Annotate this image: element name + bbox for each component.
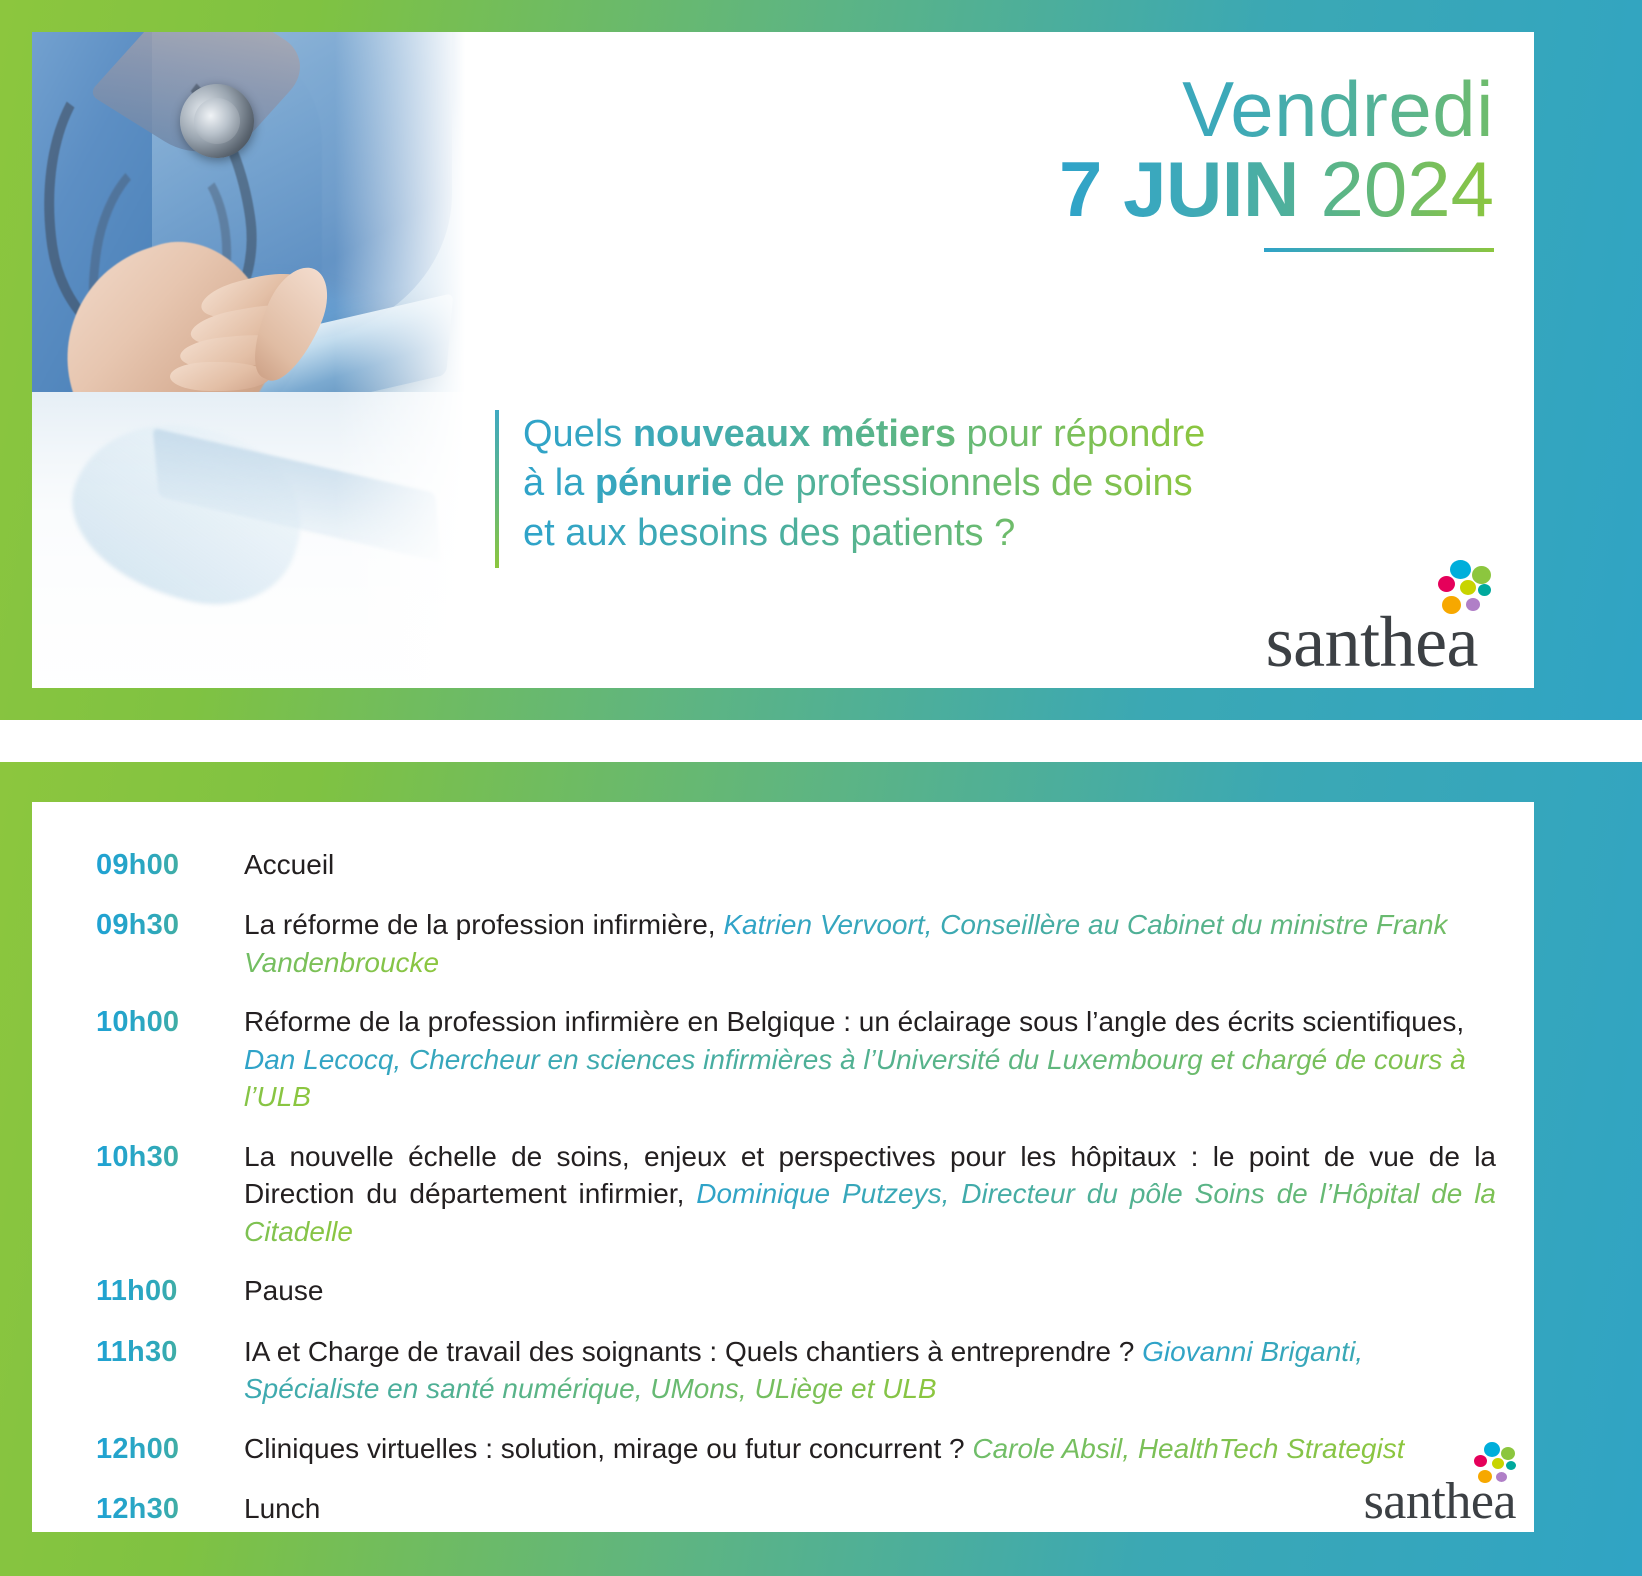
agenda-time: 12h30 [96, 1490, 244, 1528]
date-weekday: Vendredi [1059, 70, 1494, 148]
agenda-row[interactable]: 11h30 IA et Charge de travail des soigna… [96, 1333, 1496, 1408]
agenda-speaker: Carole Absil, HealthTech Strategist [972, 1433, 1404, 1464]
agenda-time: 09h30 [96, 906, 244, 944]
agenda-title: Cliniques virtuelles : solution, mirage … [244, 1433, 972, 1464]
agenda-time: 11h00 [96, 1272, 244, 1310]
theme-lines: Quels nouveaux métiers pour répondre à l… [499, 410, 1205, 568]
agenda-time: 10h00 [96, 1003, 244, 1041]
agenda-row[interactable]: 09h30 La réforme de la profession infirm… [96, 906, 1496, 981]
agenda-speaker: Dan Lecocq, Chercheur en sciences infirm… [244, 1044, 1466, 1113]
header-card: Vendredi 7 JUIN 2024 Quels nouveaux méti… [32, 32, 1534, 688]
date-day-month: 7 JUIN [1059, 145, 1299, 233]
agenda-title: Pause [244, 1275, 323, 1306]
date-underline-rule [1264, 248, 1494, 252]
agenda-card: 09h00 Accueil 09h30 La réforme de la pro… [32, 802, 1534, 1532]
agenda-title: Réforme de la profession infirmière en B… [244, 1006, 1464, 1037]
theme-line2-emphasis: pénurie [595, 462, 732, 504]
agenda-entry: Accueil [244, 846, 1496, 884]
agenda-row[interactable]: 10h00 Réforme de la profession infirmièr… [96, 1003, 1496, 1116]
event-flyer: Vendredi 7 JUIN 2024 Quels nouveaux méti… [0, 0, 1642, 1576]
agenda-title: IA et Charge de travail des soignants : … [244, 1336, 1142, 1367]
agenda-title: Accueil [244, 849, 334, 880]
agenda-entry: IA et Charge de travail des soignants : … [244, 1333, 1496, 1408]
agenda-title: Lunch [244, 1493, 320, 1524]
agenda-time: 10h30 [96, 1138, 244, 1176]
agenda-entry: Réforme de la profession infirmière en B… [244, 1003, 1496, 1116]
theme-line2-part-a: à la [523, 462, 595, 504]
agenda-title: La réforme de la profession infirmière, [244, 909, 723, 940]
photo-fade-right [335, 32, 465, 688]
santhea-dots-icon [1454, 1442, 1524, 1504]
event-theme: Quels nouveaux métiers pour répondre à l… [495, 410, 1395, 568]
santhea-logo[interactable]: santhea [1364, 1476, 1516, 1528]
header-panel-frame: Vendredi 7 JUIN 2024 Quels nouveaux méti… [0, 0, 1642, 720]
theme-line1-emphasis: nouveaux métiers [633, 413, 956, 455]
agenda-entry: La réforme de la profession infirmière, … [244, 906, 1496, 981]
date-year: 2024 [1320, 145, 1494, 233]
agenda-entry: Cliniques virtuelles : solution, mirage … [244, 1430, 1496, 1468]
santhea-logo[interactable]: santhea [1266, 606, 1478, 678]
agenda-time: 11h30 [96, 1333, 244, 1371]
hero-photo [32, 32, 465, 688]
theme-line2-part-c: de professionnels de soins [732, 462, 1193, 504]
agenda-entry: Lunch [244, 1490, 1496, 1528]
agenda-entry: La nouvelle échelle de soins, enjeux et … [244, 1138, 1496, 1251]
date-day-year: 7 JUIN 2024 [1059, 150, 1494, 228]
agenda-time: 12h00 [96, 1430, 244, 1468]
agenda-panel-frame: 09h00 Accueil 09h30 La réforme de la pro… [0, 762, 1642, 1576]
theme-line1-part-a: Quels [523, 413, 633, 455]
agenda-row[interactable]: 10h30 La nouvelle échelle de soins, enje… [96, 1138, 1496, 1251]
agenda-row[interactable]: 09h00 Accueil [96, 846, 1496, 884]
theme-line-2: à la pénurie de professionnels de soins [523, 459, 1205, 508]
santhea-dots-icon [1420, 560, 1490, 622]
agenda-row[interactable]: 11h00 Pause [96, 1272, 1496, 1310]
agenda-list: 09h00 Accueil 09h30 La réforme de la pro… [96, 846, 1496, 1532]
agenda-row[interactable]: 12h30 Lunch [96, 1490, 1496, 1528]
theme-line-3: et aux besoins des patients ? [523, 509, 1205, 558]
agenda-entry: Pause [244, 1272, 1496, 1310]
agenda-row[interactable]: 12h00 Cliniques virtuelles : solution, m… [96, 1430, 1496, 1468]
theme-line1-part-c: pour répondre [956, 413, 1205, 455]
event-date: Vendredi 7 JUIN 2024 [1059, 70, 1494, 252]
agenda-time: 09h00 [96, 846, 244, 884]
theme-line-1: Quels nouveaux métiers pour répondre [523, 410, 1205, 459]
